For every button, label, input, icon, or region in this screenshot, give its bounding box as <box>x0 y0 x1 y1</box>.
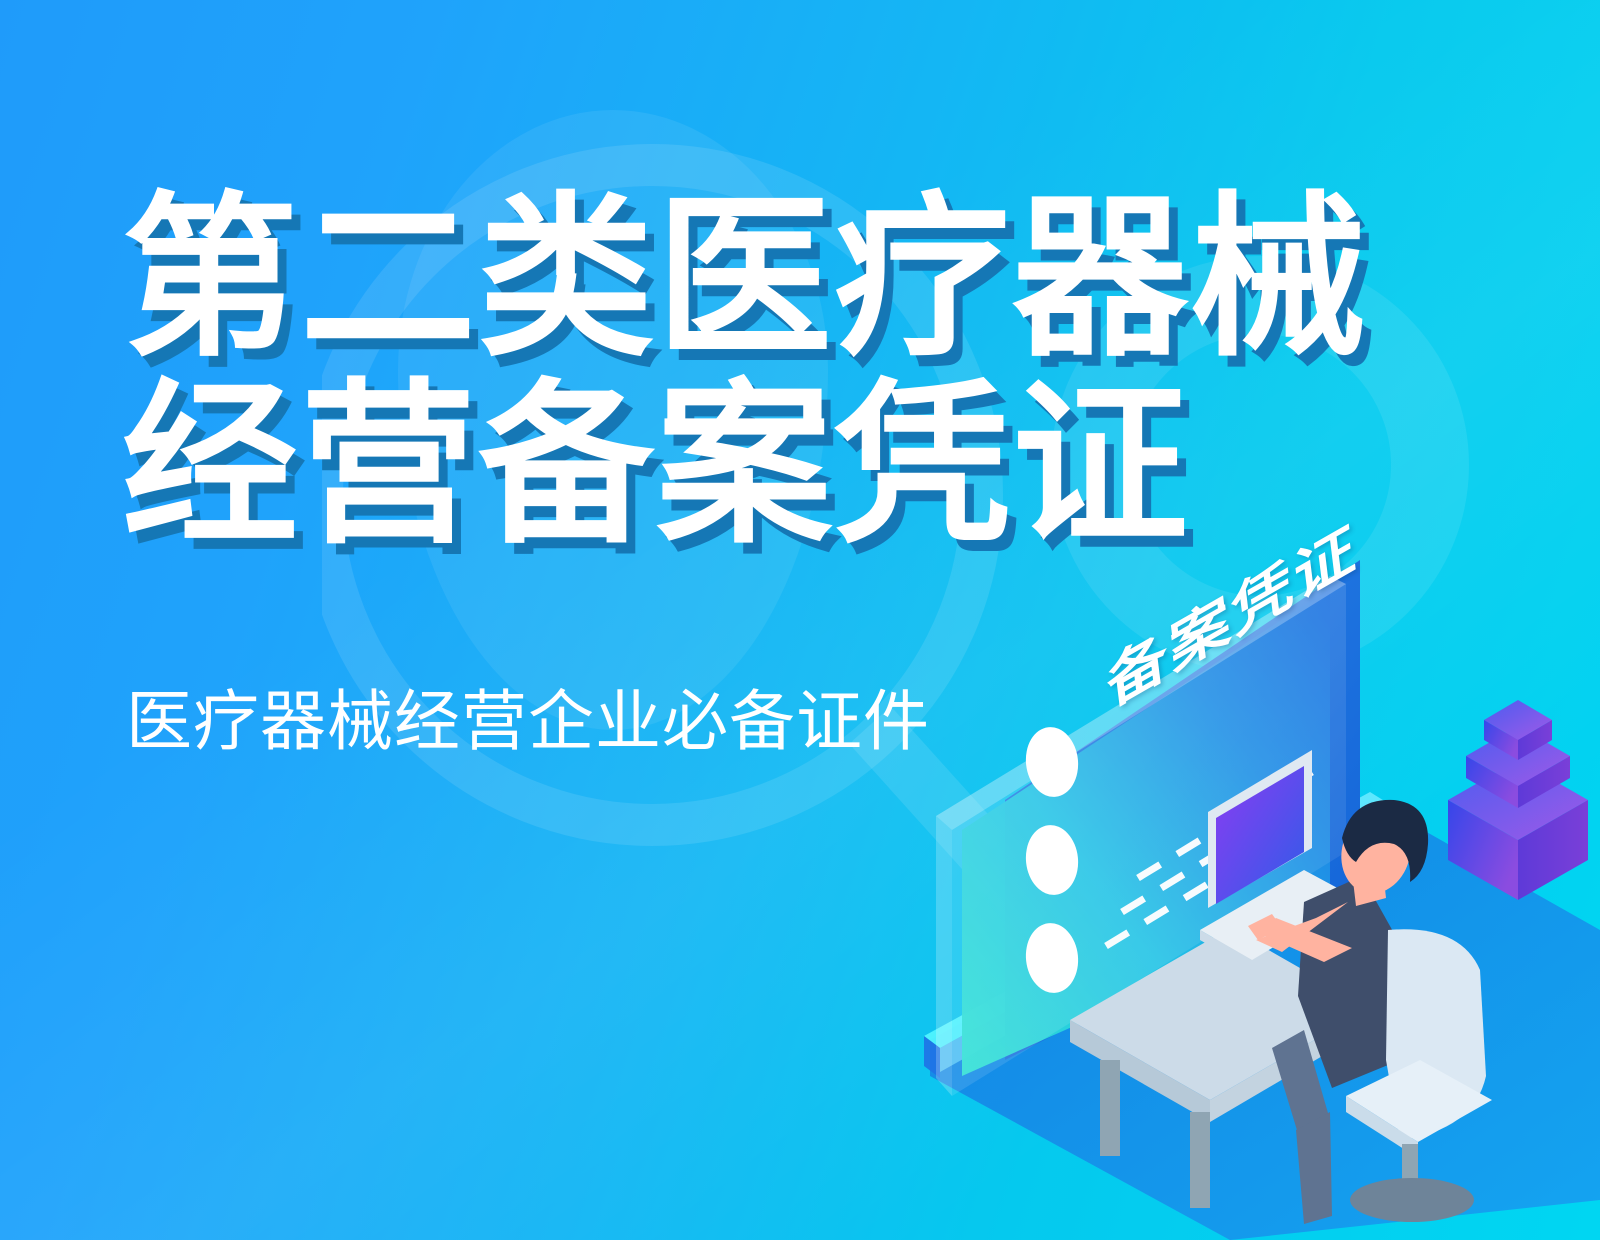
page-subtitle: 医疗器械经营企业必备证件 <box>126 668 930 764</box>
isometric-scene <box>900 500 1600 1240</box>
stacked-boxes <box>1448 700 1588 900</box>
page-title-line-1: 第二类医疗器械 <box>122 186 1302 373</box>
banner-canvas: 第二类医疗器械 经营备案凭证 医疗器械经营企业必备证件 <box>0 0 1600 1240</box>
hero-illustration <box>900 500 1600 1240</box>
